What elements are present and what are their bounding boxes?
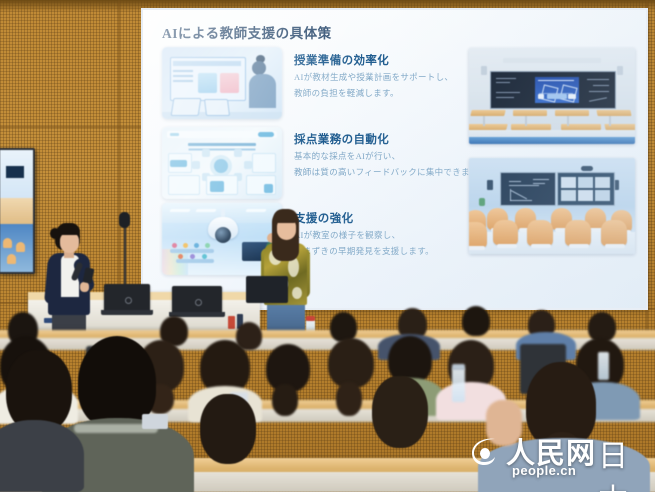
audience-member-foreground (372, 376, 428, 448)
section-2-heading: 採点業務の自動化 (294, 131, 389, 147)
water-bottle (452, 368, 465, 402)
presentation-slide: AIによる教師支援の具体策 (143, 10, 646, 308)
slide-title: AIによる教師支援の具体策 (162, 22, 332, 42)
section-2-body: 基本的な採点をAIが行い、 教師は質の高いフィードバックに集中できます。 (294, 149, 487, 180)
teacher-at-monitor-illustration (162, 47, 282, 119)
water-bottle (598, 352, 609, 380)
side-wall-monitor (0, 148, 35, 274)
audience-member-shoulders (0, 420, 84, 492)
peoplecn-logo-icon (462, 432, 502, 472)
watermark: 人民网 people.cn 日本 (458, 428, 648, 484)
audience-member-hair (336, 382, 362, 416)
wall-seam (646, 0, 648, 340)
smart-classroom-large-display-photo (469, 48, 635, 144)
audience-member (462, 306, 490, 336)
projection-screen: AIによる教師支援の具体策 (143, 10, 646, 308)
desk-object (228, 316, 235, 329)
ai-grading-dashboard-illustration (162, 127, 282, 199)
laptop-base (101, 310, 153, 315)
wall-seam (118, 0, 120, 330)
water-bottle-cap (306, 316, 315, 321)
wall-seam (0, 126, 143, 128)
section-1-heading: 授業準備の効率化 (294, 52, 389, 68)
watermark-domain: people.cn (512, 463, 576, 478)
smartphone (142, 414, 168, 429)
audience-member-foreground (200, 394, 256, 464)
lecture-hall-photo: AIによる教師支援の具体策 (0, 0, 655, 492)
watermark-edition: 日本 (598, 431, 648, 492)
classroom-orange-chairs-video-conference-photo (469, 158, 635, 254)
microphone-head-icon (119, 212, 130, 228)
laptop[interactable] (172, 286, 222, 314)
audience-member-hair (272, 384, 298, 416)
laptop[interactable] (246, 276, 288, 303)
section-1-body: AIが教材生成や授業計画をサポートし、 教師の負担を軽減します。 (294, 70, 453, 101)
water-bottle-cap (452, 364, 465, 370)
section-3-body: AIが教室の様子を観察し、 つまずきの早期発見を支援します。 (294, 228, 434, 259)
audience-member (328, 338, 374, 388)
section-3-heading: 支援の強化 (294, 210, 354, 226)
wall-seam (470, 308, 655, 310)
laptop[interactable] (104, 284, 150, 312)
